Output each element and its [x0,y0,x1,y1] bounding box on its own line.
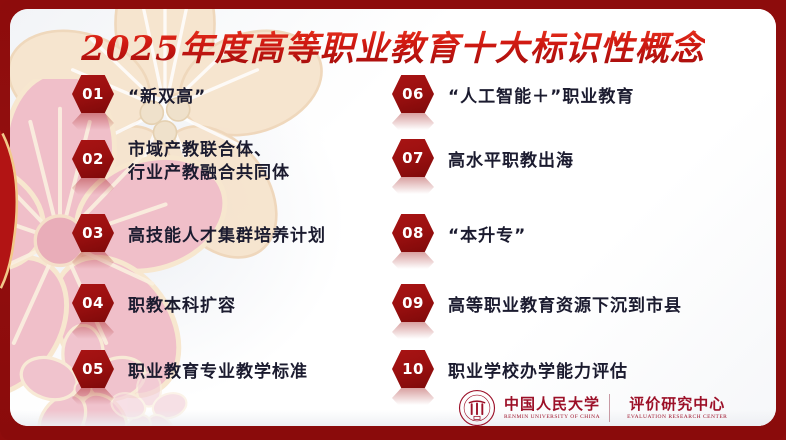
hexagon-shape-icon: 04 [72,284,114,322]
list-item-09[interactable]: 09 高等职业教育资源下沉到市县 [392,284,682,328]
hexagon-shape-icon: 06 [392,75,434,113]
page-title: 2025年度高等职业教育十大标识性概念 [81,27,705,71]
item-number: 01 [82,87,104,102]
university-name-cn: 中国人民大学 [504,395,600,413]
hexagon-badge-10: 10 [392,350,434,394]
hexagon-badge-09: 09 [392,284,434,328]
hexagon-badge-04: 04 [72,284,114,328]
item-label: 高水平职教出海 [448,150,574,172]
hexagon-badge-01: 01 [72,75,114,119]
item-number: 10 [402,362,424,377]
center-name-cn: 评价研究中心 [627,395,727,413]
item-label: 高等职业教育资源下沉到市县 [448,295,682,317]
logo-divider [609,394,610,422]
item-label: 市域产教联合体、 行业产教融合共同体 [128,139,290,185]
hexagon-badge-02: 02 [72,140,114,184]
item-label: 高技能人才集群培养计划 [128,225,326,247]
hexagon-shape-icon: 03 [72,214,114,252]
hexagon-badge-05: 05 [72,350,114,394]
item-label: 职业教育专业教学标准 [128,361,308,383]
poster-title-wrap: 2025年度高等职业教育十大标识性概念 [10,27,776,71]
item-number: 04 [82,296,104,311]
list-item-08[interactable]: 08 “本升专” [392,214,526,258]
center-name-block: 评价研究中心 EVALUATION RESEARCH CENTER [627,395,727,422]
list-item-01[interactable]: 01 “新双高” [72,75,206,119]
item-number: 08 [402,226,424,241]
hexagon-shape-icon: 09 [392,284,434,322]
item-label: “人工智能＋”职业教育 [448,86,634,108]
hexagon-shape-icon: 10 [392,350,434,388]
item-number: 06 [402,87,424,102]
hexagon-shape-icon: 05 [72,350,114,388]
item-number: 05 [82,362,104,377]
list-item-03[interactable]: 03 高技能人才集群培养计划 [72,214,326,258]
item-number: 09 [402,296,424,311]
center-name-en: EVALUATION RESEARCH CENTER [627,413,727,422]
poster-root: 2025年度高等职业教育十大标识性概念 01 “新双高” 02 [0,0,786,440]
item-number: 02 [82,152,104,167]
item-label: 职业学校办学能力评估 [448,361,628,383]
hexagon-shape-icon: 02 [72,140,114,178]
item-label: “新双高” [128,86,206,108]
hexagon-shape-icon: 01 [72,75,114,113]
hexagon-badge-06: 06 [392,75,434,119]
item-label: 职教本科扩容 [128,295,236,317]
list-item-02[interactable]: 02 市域产教联合体、 行业产教融合共同体 [72,139,290,185]
list-item-06[interactable]: 06 “人工智能＋”职业教育 [392,75,634,119]
university-name-block: 中国人民大学 RENMIN UNIVERSITY OF CHINA [504,395,600,422]
list-item-07[interactable]: 07 高水平职教出海 [392,139,574,183]
university-seal-icon [458,389,496,426]
hexagon-shape-icon: 08 [392,214,434,252]
item-label: “本升专” [448,225,526,247]
hexagon-badge-03: 03 [72,214,114,258]
hexagon-badge-08: 08 [392,214,434,258]
footer-logo: 中国人民大学 RENMIN UNIVERSITY OF CHINA 评价研究中心… [458,387,727,426]
hexagon-badge-07: 07 [392,139,434,183]
university-name-en: RENMIN UNIVERSITY OF CHINA [504,413,600,422]
item-number: 07 [402,151,424,166]
list-item-04[interactable]: 04 职教本科扩容 [72,284,236,328]
list-item-05[interactable]: 05 职业教育专业教学标准 [72,350,308,394]
poster-panel: 2025年度高等职业教育十大标识性概念 01 “新双高” 02 [10,9,776,426]
hexagon-shape-icon: 07 [392,139,434,177]
item-number: 03 [82,226,104,241]
